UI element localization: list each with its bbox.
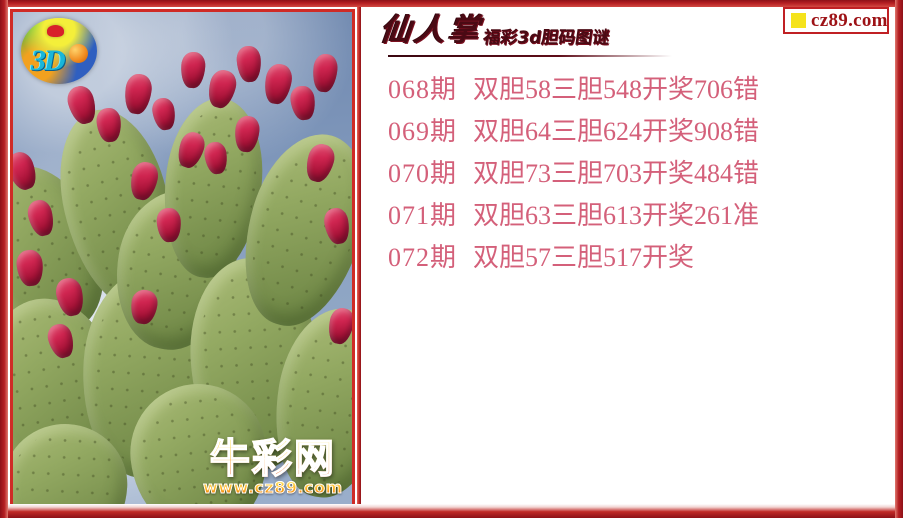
title-underline — [388, 55, 672, 57]
title-main: 仙人掌 — [378, 15, 483, 46]
emblem-ball-icon — [69, 44, 88, 63]
list-item: 068期 双胆58三胆548开奖706错 — [362, 69, 895, 111]
frame-top-border — [0, 0, 903, 7]
row-body: 双胆64三胆624开奖908错 — [473, 119, 759, 145]
row-period: 072期 — [388, 245, 457, 271]
emblem-cap-icon — [47, 25, 64, 37]
row-period: 069期 — [388, 119, 457, 145]
badge-square-icon — [791, 13, 806, 28]
photo-panel: 3D 牛彩网 www.cz89.com — [10, 9, 355, 509]
row-body: 双胆63三胆613开奖261准 — [473, 203, 759, 229]
site-badge-text: cz89.com — [811, 11, 888, 30]
lottery-3d-emblem-icon: 3D — [21, 18, 97, 84]
row-period: 068期 — [388, 77, 457, 103]
list-item: 071期 双胆63三胆613开奖261准 — [362, 195, 895, 237]
list-item: 070期 双胆73三胆703开奖484错 — [362, 153, 895, 195]
list-item: 072期 双胆57三胆517开奖 — [362, 237, 895, 279]
title-subtitle: 福彩3d胆码图谜 — [482, 23, 612, 48]
list-item: 069期 双胆64三胆624开奖908错 — [362, 111, 895, 153]
cactus-photo — [13, 12, 352, 506]
vertical-divider — [357, 7, 361, 511]
row-period: 071期 — [388, 203, 457, 229]
page-title: 仙人掌福彩3d胆码图谜 — [380, 15, 680, 46]
row-period: 070期 — [388, 161, 457, 187]
row-body: 双胆73三胆703开奖484错 — [473, 161, 759, 187]
page-root: 3D 牛彩网 www.cz89.com cz89.com 仙人掌福彩3d胆码图谜… — [0, 0, 903, 518]
emblem-label: 3D — [31, 46, 64, 76]
site-badge[interactable]: cz89.com — [783, 7, 889, 34]
row-body: 双胆58三胆548开奖706错 — [473, 77, 759, 103]
frame-bottom-border — [0, 504, 903, 518]
frame-left-border — [0, 0, 8, 518]
forecast-list: 068期 双胆58三胆548开奖706错 069期 双胆64三胆624开奖908… — [362, 69, 895, 279]
row-body: 双胆57三胆517开奖 — [473, 245, 694, 271]
frame-right-border — [895, 0, 903, 518]
content-panel: cz89.com 仙人掌福彩3d胆码图谜 068期 双胆58三胆548开奖706… — [362, 7, 895, 511]
